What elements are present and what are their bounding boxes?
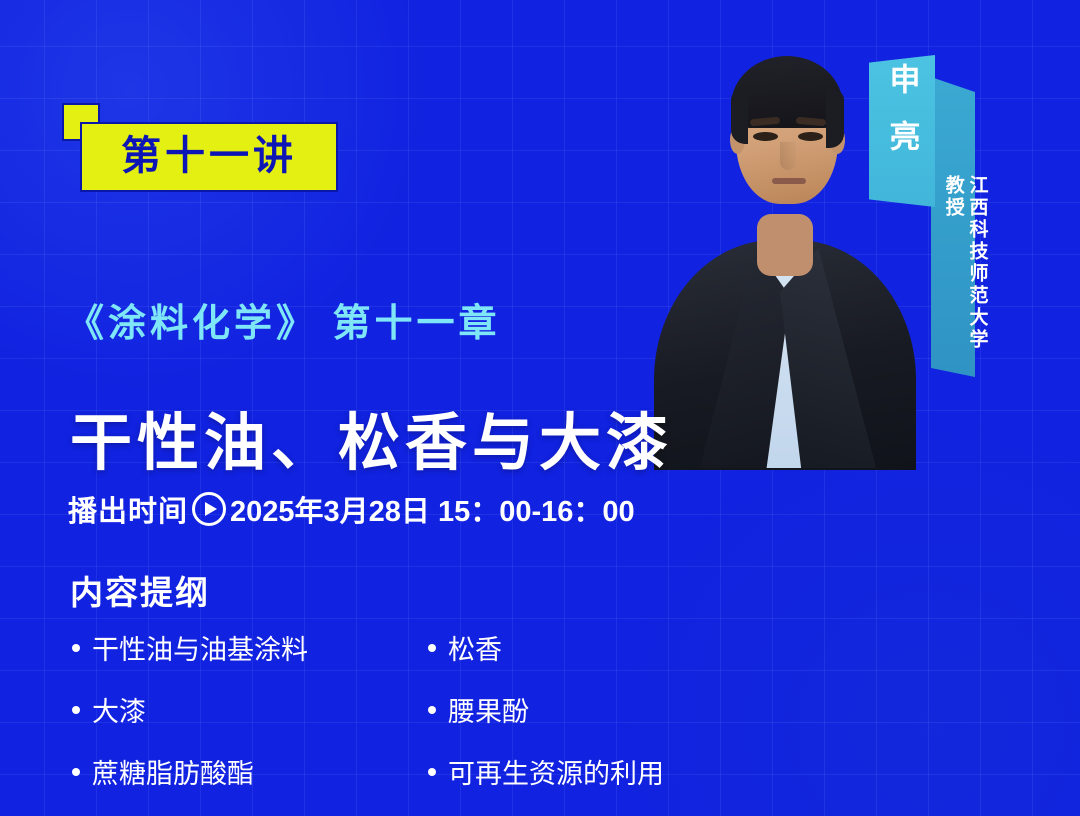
list-item: 松香 — [428, 628, 664, 667]
portrait-eye-right — [798, 132, 823, 141]
bullet-icon — [428, 644, 436, 652]
speaker-ribbon-front-panel: 申亮 — [869, 55, 935, 207]
portrait-hair-side-right — [826, 90, 844, 148]
outline-item-label: 松香 — [448, 628, 502, 667]
outline-item-label: 蔗糖脂肪酸酯 — [92, 752, 254, 791]
bullet-icon — [72, 706, 80, 714]
badge-label: 第十一讲 — [121, 136, 297, 176]
bullet-icon — [428, 768, 436, 776]
bullet-icon — [72, 644, 80, 652]
outline-item-label: 腰果酚 — [448, 690, 529, 729]
badge-main-box: 第十一讲 — [80, 122, 338, 192]
speaker-ribbon: 申亮 江西科技师范大学 教授 — [869, 55, 981, 385]
list-item: 蔗糖脂肪酸酯 — [72, 752, 342, 791]
play-icon — [192, 492, 226, 526]
outline-columns: 干性油与油基涂料 大漆 蔗糖脂肪酸酯 松香 腰果酚 可再生资源的利用 — [72, 628, 664, 791]
speaker-affiliation: 江西科技师范大学 教授 — [941, 175, 989, 365]
outline-item-label: 干性油与油基涂料 — [92, 628, 308, 667]
outline-item-label: 大漆 — [92, 690, 146, 729]
airtime-row: 播出时间 2025年3月28日 15：00-16：00 — [68, 488, 635, 530]
list-item: 大漆 — [72, 690, 342, 729]
course-subtitle: 《涂料化学》 第十一章 — [66, 292, 501, 347]
list-item: 干性油与油基涂料 — [72, 628, 342, 667]
portrait-neck — [757, 214, 813, 276]
bullet-icon — [72, 768, 80, 776]
airtime-value: 2025年3月28日 15：00-16：00 — [230, 488, 635, 530]
bullet-icon — [428, 706, 436, 714]
portrait-mouth — [772, 178, 806, 184]
outline-item-label: 可再生资源的利用 — [448, 752, 664, 791]
speaker-name: 申亮 — [887, 63, 918, 177]
portrait-nose — [780, 142, 796, 170]
portrait-hair-side-left — [731, 90, 748, 144]
outline-heading: 内容提纲 — [70, 566, 210, 614]
list-item: 可再生资源的利用 — [428, 752, 664, 791]
airtime-label: 播出时间 — [68, 488, 188, 530]
outline-column-right: 松香 腰果酚 可再生资源的利用 — [428, 628, 664, 791]
lecture-poster: 申亮 江西科技师范大学 教授 第十一讲 《涂料化学》 第十一章 干性油、松香与大… — [0, 0, 1080, 816]
portrait-eye-left — [753, 132, 778, 141]
list-item: 腰果酚 — [428, 690, 664, 729]
page-title: 干性油、松香与大漆 — [70, 392, 673, 482]
outline-column-left: 干性油与油基涂料 大漆 蔗糖脂肪酸酯 — [72, 628, 342, 791]
